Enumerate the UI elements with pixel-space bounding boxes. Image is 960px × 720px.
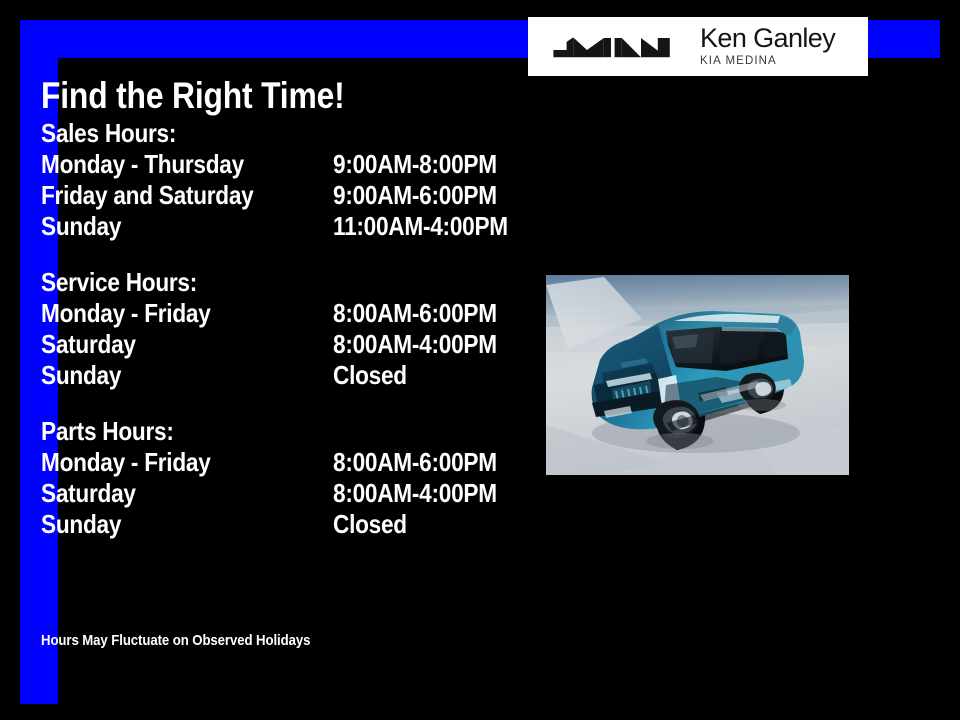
hours-row: Sunday 11:00AM-4:00PM — [41, 211, 561, 242]
hours-row: Sunday Closed — [41, 360, 561, 391]
dealer-name-block: Ken Ganley KIA MEDINA — [700, 25, 835, 68]
hours-block-heading: Service Hours: — [41, 267, 561, 298]
kia-logo-icon — [550, 32, 678, 62]
hours-block-heading: Parts Hours: — [41, 416, 561, 447]
hours-row-day: Monday - Thursday — [41, 149, 244, 180]
hours-list: Sales Hours: Monday - Thursday 9:00AM-8:… — [41, 118, 561, 540]
hours-row-time: 8:00AM-6:00PM — [333, 298, 497, 329]
hours-row-time: 8:00AM-6:00PM — [333, 447, 497, 478]
hours-block-sales: Sales Hours: Monday - Thursday 9:00AM-8:… — [41, 118, 561, 242]
hours-row-time: 8:00AM-4:00PM — [333, 478, 497, 509]
holiday-disclaimer: Hours May Fluctuate on Observed Holidays — [41, 632, 310, 649]
dealer-name: Ken Ganley — [700, 25, 835, 52]
hours-row-day: Sunday — [41, 360, 121, 391]
hours-heading-label: Sales Hours: — [41, 118, 176, 149]
hours-block-heading: Sales Hours: — [41, 118, 561, 149]
page-title: Find the Right Time! — [41, 77, 345, 116]
hours-row: Sunday Closed — [41, 509, 561, 540]
hours-row-day: Saturday — [41, 329, 136, 360]
hours-row: Monday - Friday 8:00AM-6:00PM — [41, 298, 561, 329]
hours-row-time: 11:00AM-4:00PM — [333, 211, 508, 242]
hours-row-time: 8:00AM-4:00PM — [333, 329, 497, 360]
hours-row: Friday and Saturday 9:00AM-6:00PM — [41, 180, 561, 211]
hours-row-time: 9:00AM-6:00PM — [333, 180, 497, 211]
hours-block-parts: Parts Hours: Monday - Friday 8:00AM-6:00… — [41, 416, 561, 540]
hours-row-day: Sunday — [41, 211, 121, 242]
hours-row-time: 9:00AM-8:00PM — [333, 149, 497, 180]
hours-row-day: Monday - Friday — [41, 447, 211, 478]
hours-heading-label: Service Hours: — [41, 267, 197, 298]
dealer-logo-panel: Ken Ganley KIA MEDINA — [528, 17, 868, 76]
hours-row-day: Monday - Friday — [41, 298, 211, 329]
hours-row-time: Closed — [333, 509, 407, 540]
hours-heading-label: Parts Hours: — [41, 416, 174, 447]
hours-signage-slide: Find the Right Time! Sales Hours: Monday… — [0, 0, 960, 720]
hours-row-time: Closed — [333, 360, 407, 391]
kia-ev9-suv-photo — [546, 275, 849, 475]
hours-row: Monday - Friday 8:00AM-6:00PM — [41, 447, 561, 478]
hours-row: Saturday 8:00AM-4:00PM — [41, 478, 561, 509]
hours-row-day: Sunday — [41, 509, 121, 540]
hours-row-day: Saturday — [41, 478, 136, 509]
hours-row-day: Friday and Saturday — [41, 180, 254, 211]
hours-block-service: Service Hours: Monday - Friday 8:00AM-6:… — [41, 267, 561, 391]
hours-row: Saturday 8:00AM-4:00PM — [41, 329, 561, 360]
hours-row: Monday - Thursday 9:00AM-8:00PM — [41, 149, 561, 180]
dealer-location: KIA MEDINA — [700, 56, 835, 68]
